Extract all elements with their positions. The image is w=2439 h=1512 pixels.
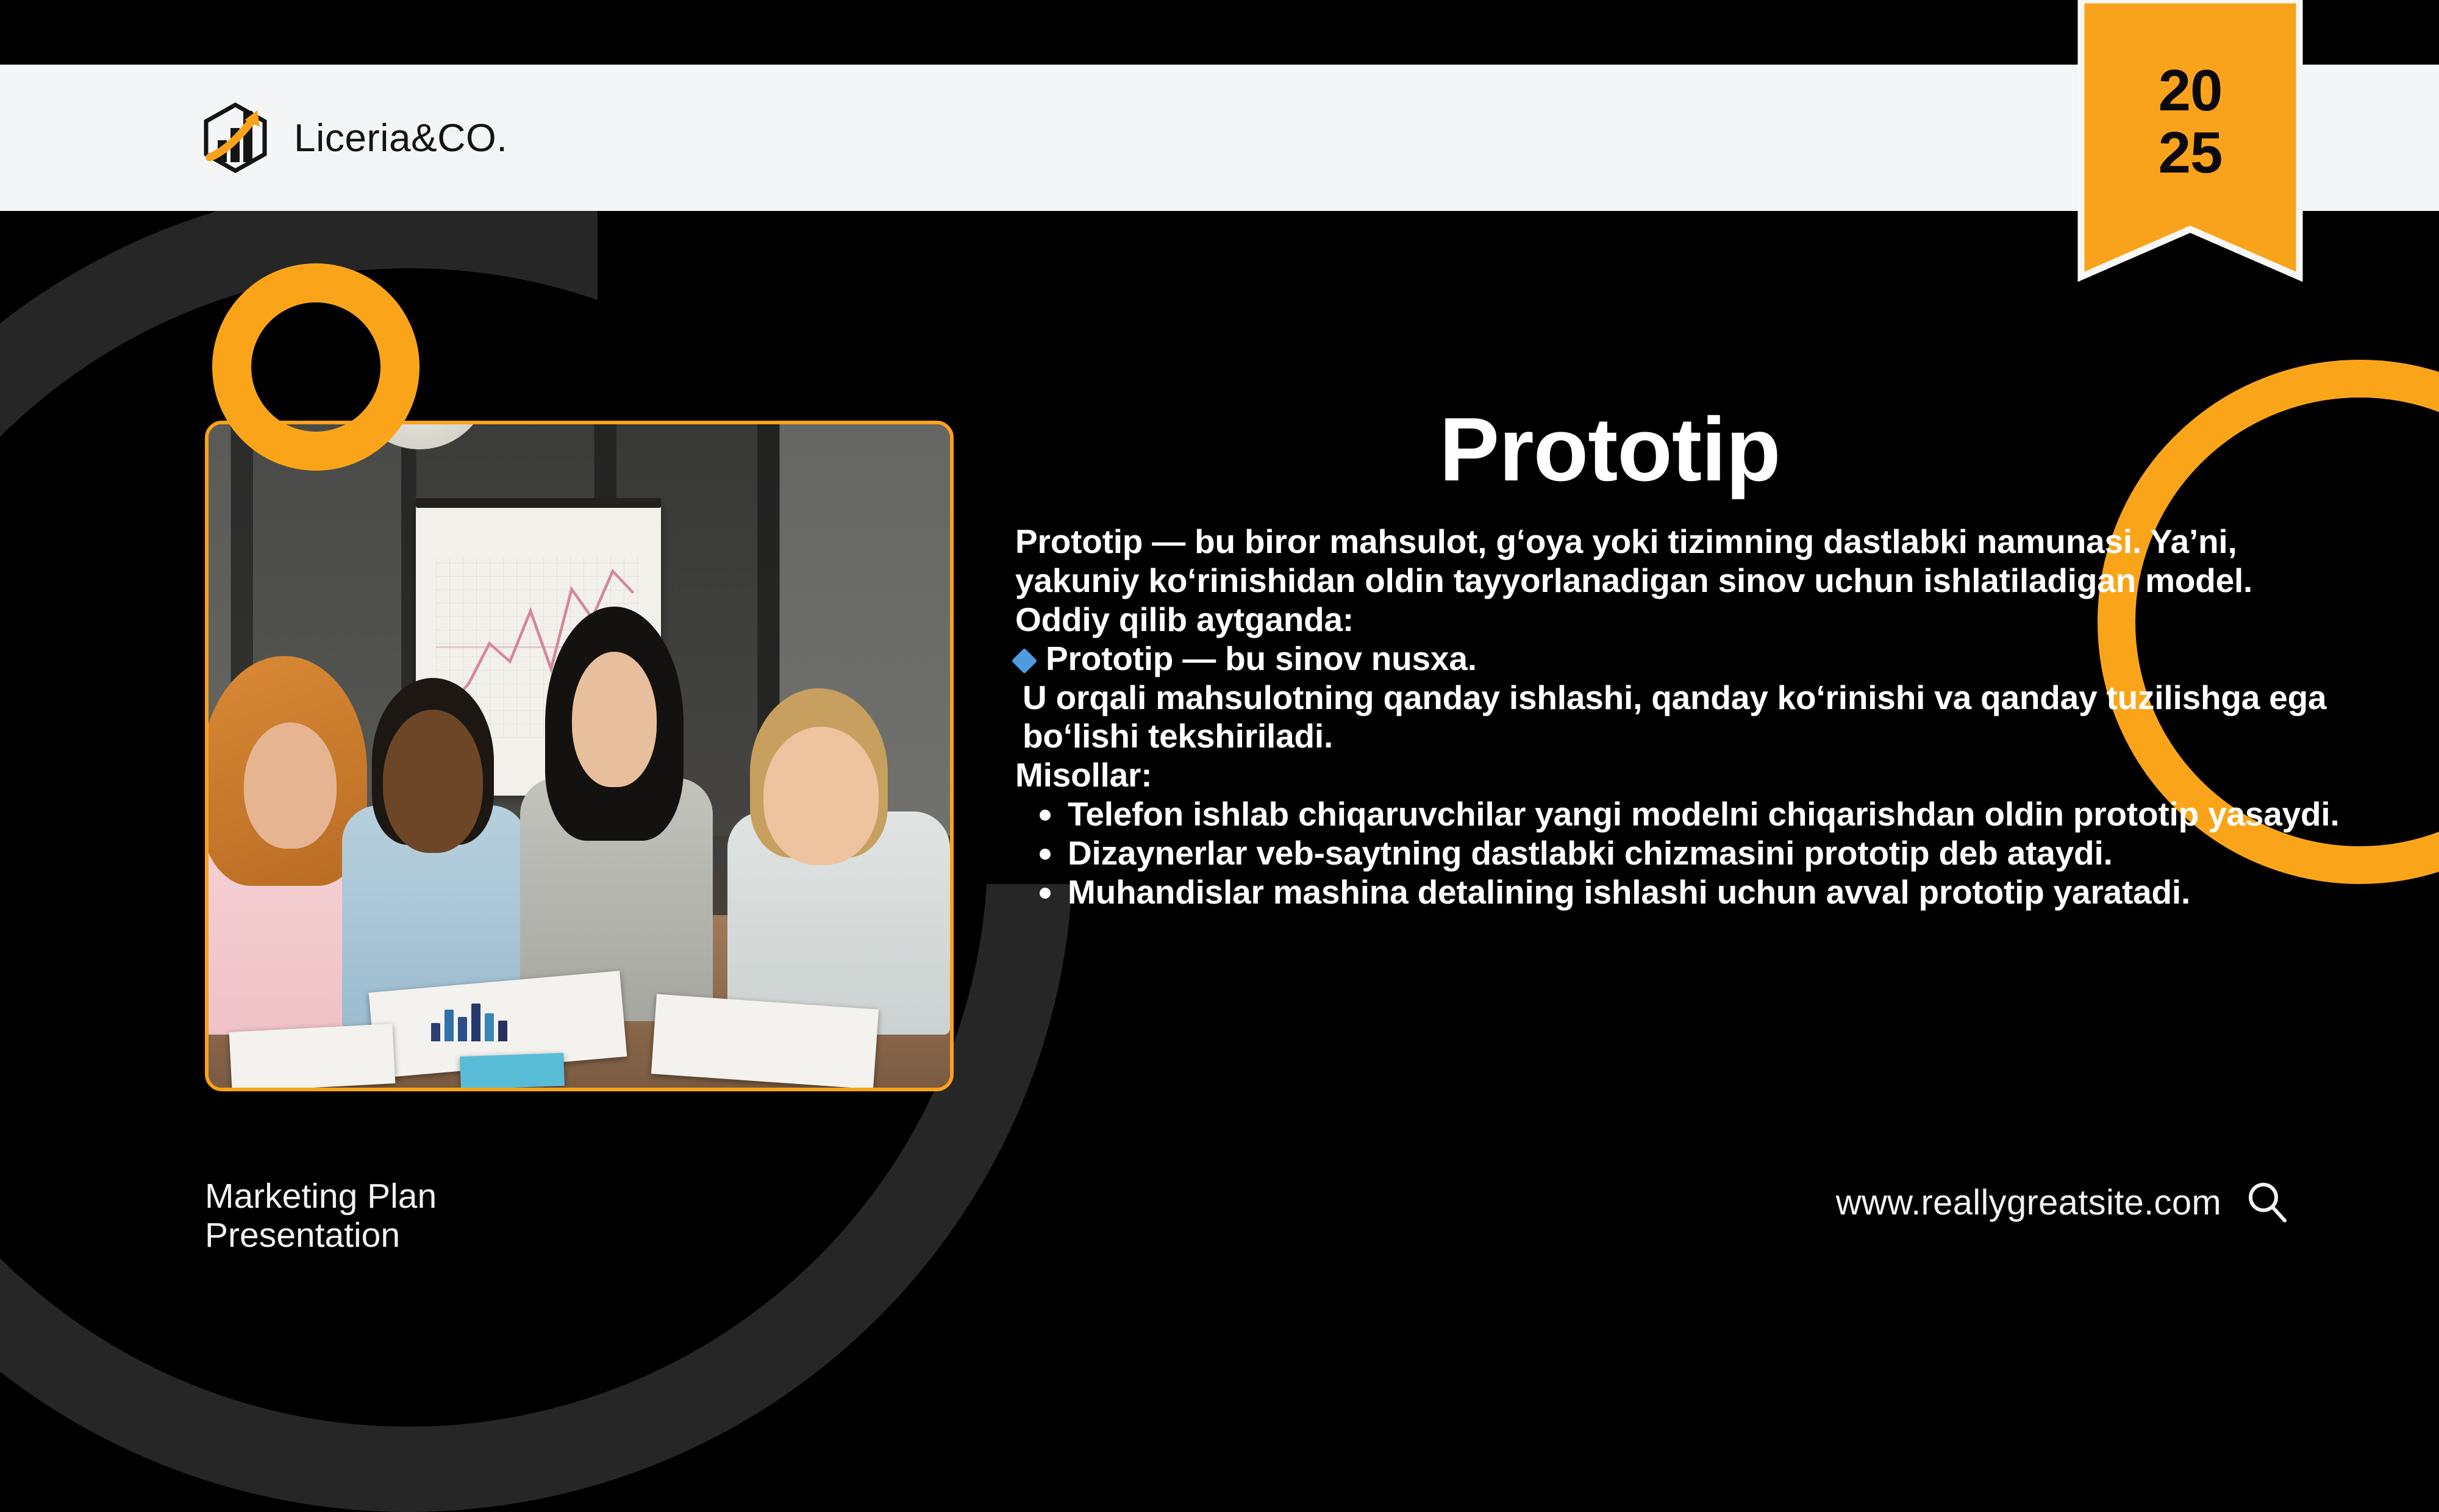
- ribbon-year-bottom: 25: [2159, 124, 2223, 182]
- examples-heading: Misollar:: [1015, 756, 2344, 795]
- detail-paragraph: U orqali mahsulotning qanday ishlashi, q…: [1015, 679, 2344, 757]
- bar-chart-arrow-hexagon-logo-icon: [201, 102, 270, 173]
- slide-body: Prototip — bu biror mahsulot, g‘oya yoki…: [1015, 522, 2344, 911]
- list-item-text: Telefon ishlab chiqaruvchilar yangi mode…: [1068, 795, 2340, 833]
- search-icon[interactable]: [2244, 1180, 2290, 1225]
- diamond-bullet-icon: [1012, 648, 1037, 674]
- ribbon-year-top: 20: [2159, 62, 2223, 120]
- bullet-dot-icon: [1040, 888, 1051, 899]
- header-bar: Liceria&CO.: [0, 65, 2439, 211]
- photo-frame: [205, 421, 954, 1091]
- top-black-strip: [0, 0, 2439, 65]
- website-url[interactable]: www.reallygreatsite.com: [1836, 1182, 2221, 1223]
- list-item: Telefon ishlab chiqaruvchilar yangi mode…: [1015, 795, 2344, 834]
- bullet-dot-icon: [1040, 810, 1051, 821]
- page-title: Prototip: [1015, 402, 2344, 497]
- year-ribbon: 20 25: [2076, 0, 2304, 282]
- sub-heading: Oddiy qilib aytganda:: [1015, 601, 2344, 640]
- footer-website[interactable]: www.reallygreatsite.com: [1836, 1180, 2290, 1225]
- team-meeting-photo: [209, 424, 950, 1088]
- footer-caption-line1: Marketing Plan: [205, 1177, 437, 1216]
- bullet-dot-icon: [1040, 849, 1051, 860]
- examples-list: Telefon ishlab chiqaruvchilar yangi mode…: [1015, 795, 2344, 911]
- list-item-text: Dizaynerlar veb-saytning dastlabki chizm…: [1068, 834, 2113, 872]
- footer-caption: Marketing Plan Presentation: [205, 1177, 437, 1255]
- year-ribbon-text: 20 25: [2076, 0, 2304, 244]
- list-item-text: Muhandislar mashina detalining ishlashi …: [1068, 873, 2190, 911]
- orange-circle-decoration: [212, 263, 420, 471]
- slide-content: Prototip Prototip — bu biror mahsulot, g…: [1015, 402, 2344, 911]
- diamond-bullet-text: Prototip — bu sinov nusxa.: [1046, 640, 1477, 679]
- intro-paragraph: Prototip — bu biror mahsulot, g‘oya yoki…: [1015, 522, 2344, 601]
- brand-name: Liceria&CO.: [294, 115, 508, 160]
- diamond-bullet-row: Prototip — bu sinov nusxa.: [1015, 640, 2344, 679]
- brand[interactable]: Liceria&CO.: [201, 102, 508, 173]
- list-item: Dizaynerlar veb-saytning dastlabki chizm…: [1015, 834, 2344, 873]
- list-item: Muhandislar mashina detalining ishlashi …: [1015, 873, 2344, 912]
- footer-caption-line2: Presentation: [205, 1216, 437, 1255]
